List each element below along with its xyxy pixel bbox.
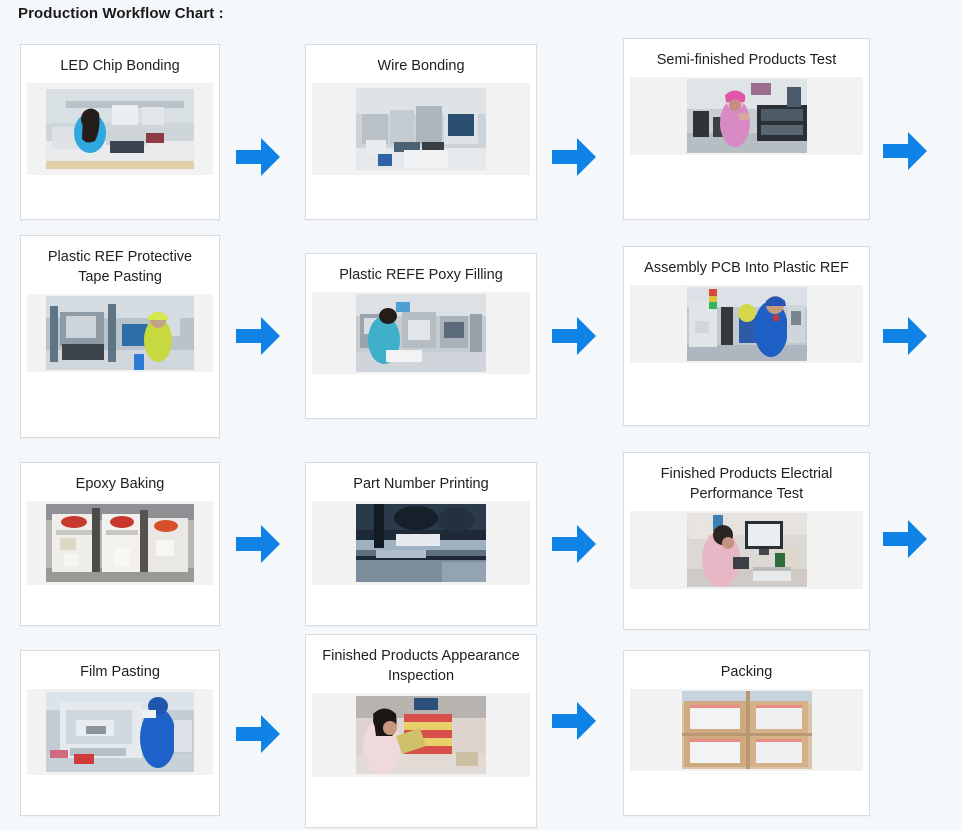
next-step-arrow: [551, 523, 597, 565]
workflow-row: Epoxy Baking: [0, 440, 962, 630]
workflow-step-card[interactable]: Epoxy Baking: [20, 462, 220, 626]
step-title: Finished Products Electrial Performance …: [624, 453, 869, 511]
workflow-step-card[interactable]: Part Number Printing: [305, 462, 537, 626]
workflow-row: Film Pasting: [0, 630, 962, 830]
workflow-row: Plastic REF Protective Tape Pasting: [0, 235, 962, 440]
step-photo-band: [630, 77, 863, 155]
finished-products-electrial-performance-test-photo: [687, 513, 807, 587]
step-title: Plastic REFE Poxy Filling: [306, 254, 536, 292]
step-photo-band: [27, 294, 213, 372]
step-title: Semi-finished Products Test: [624, 39, 869, 77]
semi-finished-products-test-photo: [687, 79, 807, 153]
led-chip-bonding-photo: [46, 89, 194, 169]
step-title: Packing: [624, 651, 869, 689]
workflow-step-card[interactable]: Assembly PCB Into Plastic REF: [623, 246, 870, 426]
plastic-refe-poxy-filling-photo: [356, 294, 486, 372]
step-title: Part Number Printing: [306, 463, 536, 501]
step-title: LED Chip Bonding: [21, 45, 219, 83]
step-photo-band: [630, 511, 863, 589]
step-photo-band: [312, 693, 530, 777]
next-step-arrow: [235, 136, 281, 178]
next-step-arrow: [551, 136, 597, 178]
workflow-step-card[interactable]: Packing: [623, 650, 870, 816]
step-title: Epoxy Baking: [21, 463, 219, 501]
assembly-pcb-into-plastic-ref-photo: [687, 287, 807, 361]
page-title: Production Workflow Chart :: [18, 5, 224, 22]
step-photo-band: [630, 689, 863, 771]
step-title: Film Pasting: [21, 651, 219, 689]
next-step-arrow: [882, 518, 928, 560]
finished-products-appearance-inspection-photo: [356, 696, 486, 774]
workflow-step-card[interactable]: Finished Products Electrial Performance …: [623, 452, 870, 630]
next-step-arrow: [882, 315, 928, 357]
part-number-printing-photo: [356, 504, 486, 582]
step-title: Wire Bonding: [306, 45, 536, 83]
next-step-arrow: [551, 315, 597, 357]
epoxy-baking-photo: [46, 504, 194, 582]
step-photo-band: [630, 285, 863, 363]
step-title: Finished Products Appearance Inspection: [306, 635, 536, 693]
step-photo-band: [312, 501, 530, 585]
workflow-step-card[interactable]: Plastic REFE Poxy Filling: [305, 253, 537, 419]
workflow-step-card[interactable]: Wire Bonding: [305, 44, 537, 220]
step-photo-band: [27, 501, 213, 585]
workflow-step-card[interactable]: Plastic REF Protective Tape Pasting: [20, 235, 220, 438]
next-step-arrow: [551, 700, 597, 742]
workflow-row: LED Chip Bonding: [0, 30, 962, 235]
plastic-ref-protective-tape-pasting-photo: [46, 296, 194, 370]
step-photo-band: [312, 292, 530, 374]
workflow-step-card[interactable]: Film Pasting: [20, 650, 220, 816]
wire-bonding-photo: [356, 88, 486, 170]
step-title: Plastic REF Protective Tape Pasting: [21, 236, 219, 294]
workflow-step-card[interactable]: Finished Products Appearance Inspection: [305, 634, 537, 828]
next-step-arrow: [882, 130, 928, 172]
step-photo-band: [27, 83, 213, 175]
packing-photo: [682, 691, 812, 769]
workflow-grid: LED Chip Bonding: [0, 30, 962, 830]
workflow-step-card[interactable]: LED Chip Bonding: [20, 44, 220, 220]
next-step-arrow: [235, 315, 281, 357]
next-step-arrow: [235, 523, 281, 565]
step-photo-band: [27, 689, 213, 775]
next-step-arrow: [235, 713, 281, 755]
film-pasting-photo: [46, 692, 194, 772]
step-photo-band: [312, 83, 530, 175]
workflow-step-card[interactable]: Semi-finished Products Test: [623, 38, 870, 220]
step-title: Assembly PCB Into Plastic REF: [624, 247, 869, 285]
